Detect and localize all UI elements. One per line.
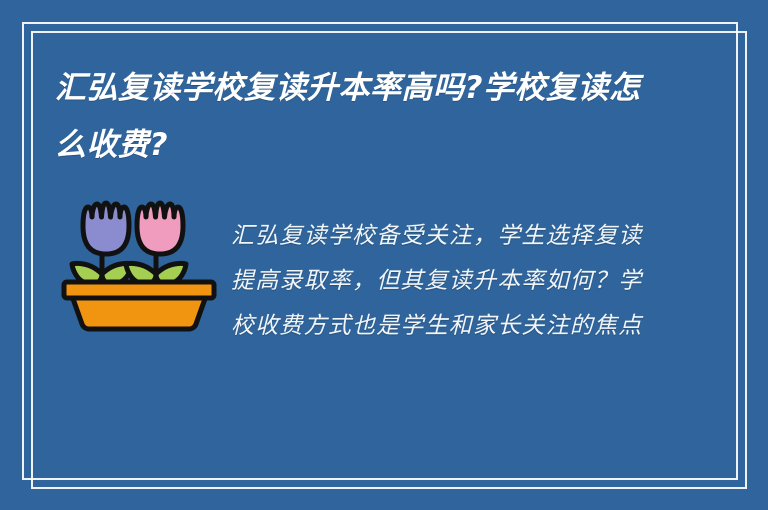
planter-rim-icon	[64, 282, 214, 298]
planter-body-icon	[72, 296, 206, 329]
flower-planter-svg	[58, 198, 220, 334]
flower-right-icon	[137, 203, 183, 254]
page-title: 汇弘复读学校复读升本率高吗?学校复读怎么收费?	[55, 60, 655, 174]
body-paragraph: 汇弘复读学校备受关注，学生选择复读提高录取率，但其复读升本率如何？学校收费方式也…	[231, 214, 651, 349]
flower-left-icon	[83, 203, 129, 254]
poster-canvas: 汇弘复读学校复读升本率高吗?学校复读怎么收费?	[0, 0, 768, 510]
flower-planter-illustration	[58, 198, 220, 334]
